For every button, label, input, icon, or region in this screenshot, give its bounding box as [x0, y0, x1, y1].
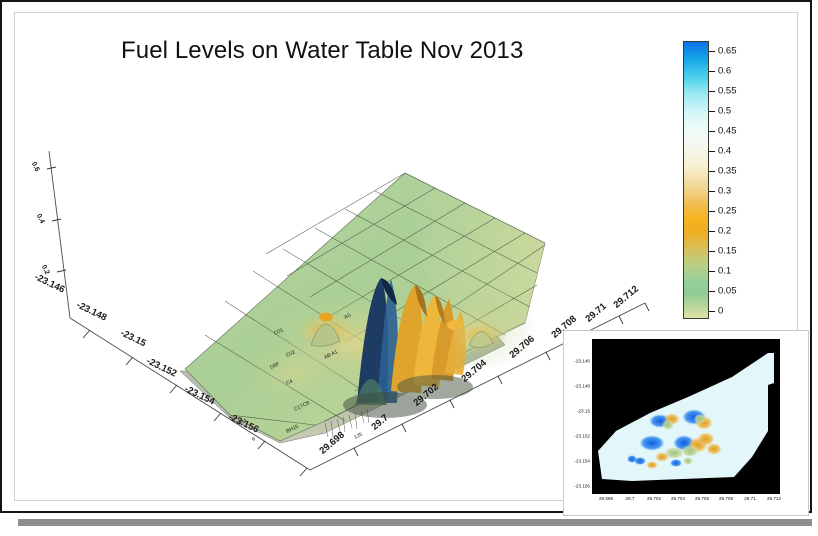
inset-y-tick-label: -23.146 [564, 359, 590, 364]
figure-frame: Fuel Levels on Water Table Nov 2013 [14, 12, 798, 501]
colorbar-gradient [683, 41, 709, 319]
colorbar-tick-label: 0.15 [718, 246, 737, 257]
inset-y-tick-label: -23.15 [564, 409, 590, 414]
window-right-gap [812, 14, 818, 526]
inset-x-tick-label: 29.708 [719, 496, 733, 501]
colorbar-tick-label: 0 [718, 306, 723, 317]
colorbar: 0.65 0.6 0.55 0.5 0.45 0.4 0.35 0.3 0.25… [683, 41, 763, 323]
inset-plot-svg [592, 339, 780, 494]
colorbar-tick-label: 0.65 [718, 46, 737, 57]
colorbar-tick-label: 0.6 [718, 66, 731, 77]
inset-x-tick-label: 29.712 [767, 496, 781, 501]
inset-x-tick-label: 29.702 [647, 496, 661, 501]
inset-y-tick-label: -23.156 [564, 484, 590, 489]
colorbar-tick-label: 0.45 [718, 126, 737, 137]
inset-x-tick-label: 29.706 [695, 496, 709, 501]
inset-x-tick-label: 29.7 [626, 496, 635, 501]
colorbar-tick-label: 0.5 [718, 106, 731, 117]
colorbar-tick-label: 0.3 [718, 186, 731, 197]
page-title: Fuel Levels on Water Table Nov 2013 [121, 37, 523, 65]
colorbar-tick-label: 0.35 [718, 166, 737, 177]
colorbar-tick-label: 0.25 [718, 206, 737, 217]
colorbar-tick-label: 0.4 [718, 146, 731, 157]
inset-x-tick-label: 29.704 [671, 496, 685, 501]
peak-east-knoll [454, 321, 506, 349]
svg-text:125: 125 [353, 432, 364, 441]
colorbar-tick-label: 0.05 [718, 286, 737, 297]
inset-y-tick-label: -23.152 [564, 434, 590, 439]
inset-plot-area [592, 339, 780, 494]
colorbar-tick-label: 0.2 [718, 226, 731, 237]
window-bottom-shadow [18, 519, 812, 526]
svg-text:6: 6 [251, 436, 256, 443]
colorbar-tick-label: 0.55 [718, 86, 737, 97]
inset-map: -23.146 -23.148 -23.15 -23.152 -23.154 -… [563, 330, 809, 516]
colorbar-tick-label: 0.1 [718, 266, 731, 277]
inset-y-tick-label: -23.148 [564, 384, 590, 389]
figure-window: Fuel Levels on Water Table Nov 2013 [0, 0, 812, 513]
inset-y-tick-label: -23.154 [564, 459, 590, 464]
inset-x-tick-label: 29.698 [599, 496, 613, 501]
inset-x-tick-label: 29.71 [744, 496, 756, 501]
